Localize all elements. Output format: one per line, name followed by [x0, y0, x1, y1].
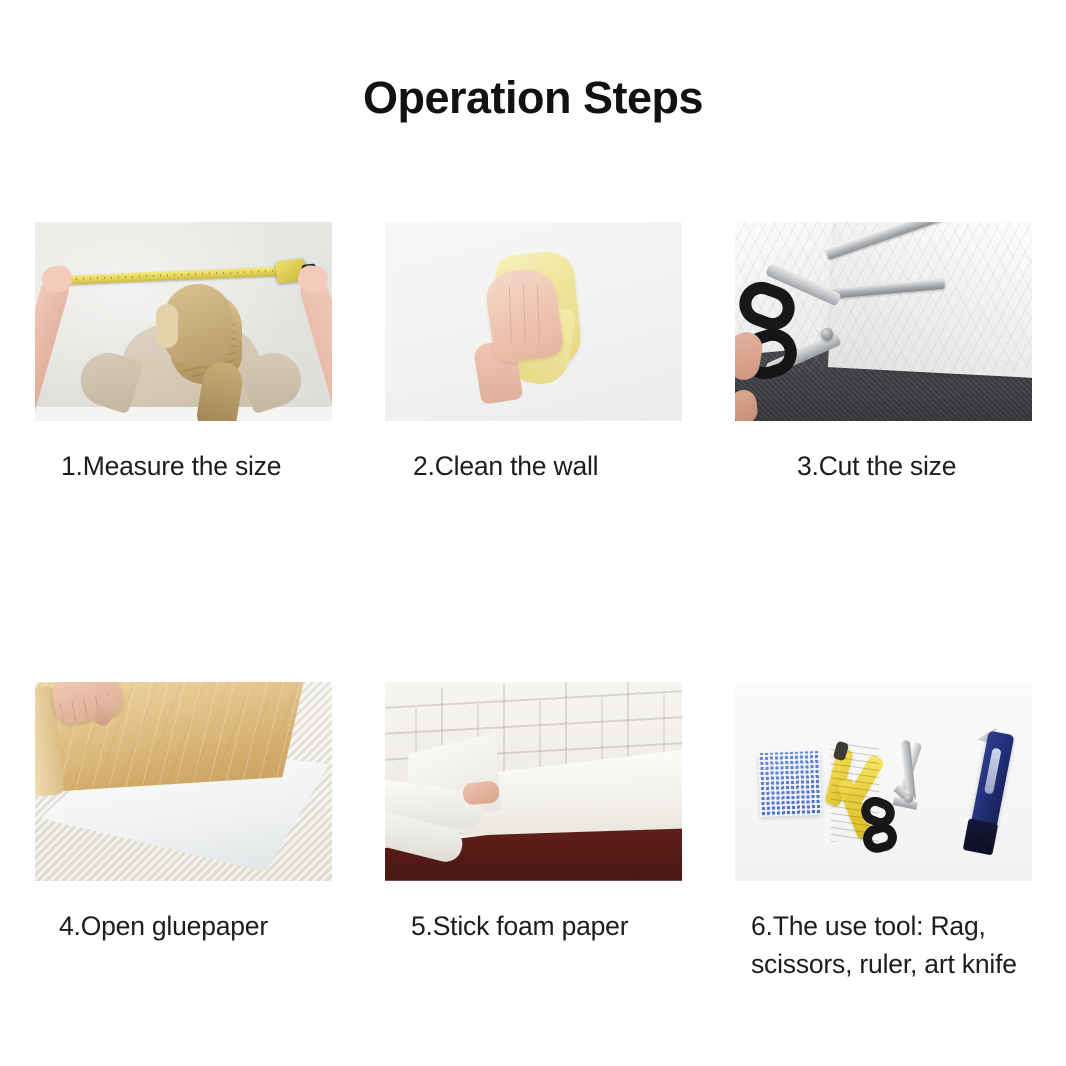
step-card-5: 5.Stick foam paper	[385, 682, 682, 984]
step-caption-2: 2.Clean the wall	[385, 447, 682, 486]
rag-icon	[758, 751, 822, 817]
step-caption-3: 3.Cut the size	[735, 447, 1032, 486]
step-caption-4: 4.Open gluepaper	[35, 907, 332, 946]
floor-line	[35, 407, 332, 421]
photo-stick-foam-paper	[385, 682, 682, 881]
step-caption-1: 1.Measure the size	[35, 447, 332, 486]
page-title: Operation Steps	[0, 72, 1066, 124]
art-knife-icon	[968, 730, 1015, 845]
steps-grid: 1.Measure the size 2.Clean the wall	[35, 222, 1033, 984]
scissors-pivot-screw	[821, 328, 833, 340]
photo-measure-the-size	[35, 222, 332, 421]
photo-cut-the-size	[735, 222, 1032, 421]
operation-steps-infographic: Operation Steps 1.Measure the size	[0, 0, 1066, 1066]
scissors-pivot-screw	[904, 794, 913, 803]
step-card-4: 4.Open gluepaper	[35, 682, 332, 984]
step-caption-5: 5.Stick foam paper	[385, 907, 682, 946]
photo-the-use-tool	[735, 682, 1032, 881]
step-caption-6: 6.The use tool: Rag, scissors, ruler, ar…	[735, 907, 1032, 984]
photo-open-gluepaper	[35, 682, 332, 881]
step-card-1: 1.Measure the size	[35, 222, 332, 486]
head	[164, 284, 232, 366]
step-card-3: 3.Cut the size	[735, 222, 1032, 486]
step-card-2: 2.Clean the wall	[385, 222, 682, 486]
hand	[462, 780, 500, 806]
step-card-6: 6.The use tool: Rag, scissors, ruler, ar…	[735, 682, 1032, 984]
row-spacer	[35, 486, 1032, 682]
photo-clean-the-wall	[385, 222, 682, 421]
